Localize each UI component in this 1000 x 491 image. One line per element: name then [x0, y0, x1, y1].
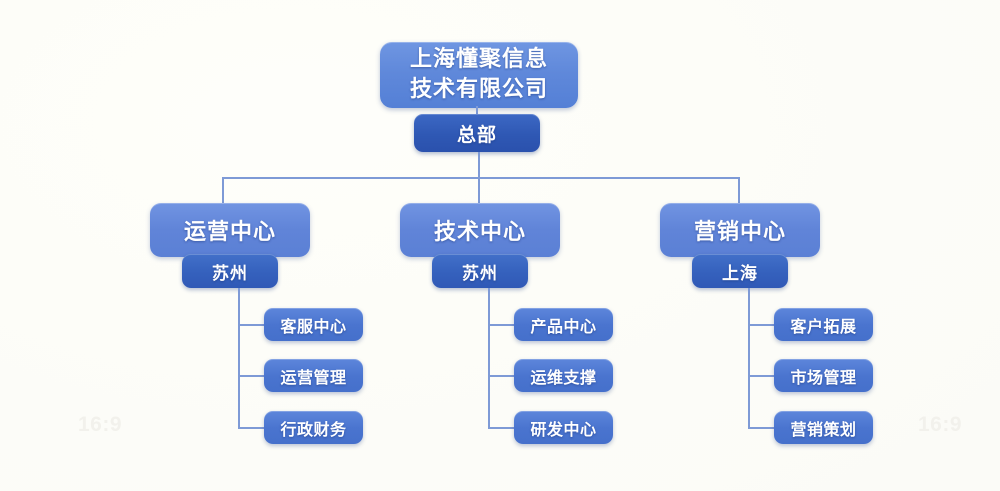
node-technology-leaf-ops-support[interactable]: 运维支撑 [514, 359, 613, 392]
node-marketing-center[interactable]: 营销中心 [660, 203, 820, 257]
node-operations-leaf-customer-service[interactable]: 客服中心 [264, 308, 363, 341]
connector-marketing-leaf-3 [748, 427, 776, 429]
connector-operations-leaf-1 [238, 324, 266, 326]
node-marketing-leaf-customer-development[interactable]: 客户拓展 [774, 308, 873, 341]
node-operations-center[interactable]: 运营中心 [150, 203, 310, 257]
root-company-name-line1: 上海懂聚信息 [410, 45, 548, 75]
org-chart-canvas: 16:9 16:9 上海懂聚信息 技术有限公司 总部 运营中心 苏州 客服中心 … [0, 0, 1000, 491]
node-technology-center[interactable]: 技术中心 [400, 203, 560, 257]
node-operations-city[interactable]: 苏州 [182, 254, 278, 288]
node-operations-leaf-admin-finance[interactable]: 行政财务 [264, 411, 363, 444]
connector-operations-leaf-2 [238, 375, 266, 377]
node-technology-leaf-rnd-center[interactable]: 研发中心 [514, 411, 613, 444]
connector-bus-to-technology [478, 177, 480, 205]
connector-technology-leaf-1 [488, 324, 516, 326]
connector-operations-spine [238, 288, 240, 428]
watermark-left: 16:9 [78, 413, 122, 437]
connector-bus-to-marketing [738, 177, 740, 205]
root-company-name-line2: 技术有限公司 [410, 75, 548, 105]
connector-marketing-leaf-2 [748, 375, 776, 377]
connector-operations-leaf-3 [238, 427, 266, 429]
watermark-right: 16:9 [918, 413, 962, 437]
connector-marketing-spine [748, 288, 750, 428]
node-headquarters[interactable]: 总部 [414, 114, 540, 152]
connector-technology-leaf-2 [488, 375, 516, 377]
node-technology-leaf-product-center[interactable]: 产品中心 [514, 308, 613, 341]
node-technology-city[interactable]: 苏州 [432, 254, 528, 288]
node-marketing-leaf-marketing-planning[interactable]: 营销策划 [774, 411, 873, 444]
connector-technology-leaf-3 [488, 427, 516, 429]
node-root-company[interactable]: 上海懂聚信息 技术有限公司 [380, 42, 578, 108]
node-marketing-leaf-market-management[interactable]: 市场管理 [774, 359, 873, 392]
connector-hq-drop [478, 152, 480, 178]
connector-horizontal-bus [222, 177, 738, 179]
connector-technology-spine [488, 288, 490, 428]
connector-bus-to-operations [222, 177, 224, 205]
node-marketing-city[interactable]: 上海 [692, 254, 788, 288]
connector-marketing-leaf-1 [748, 324, 776, 326]
node-operations-leaf-operations-management[interactable]: 运营管理 [264, 359, 363, 392]
